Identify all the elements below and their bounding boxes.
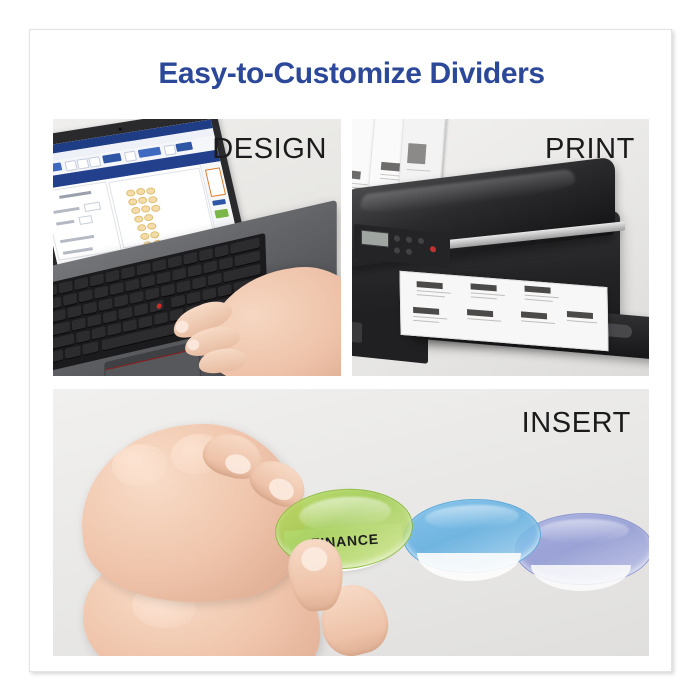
- divider-tab-preview: [134, 215, 144, 223]
- fingernail: [174, 319, 191, 335]
- step-photo-insert: FINANCE INSERT: [53, 389, 649, 656]
- ribbon-button: [175, 142, 193, 152]
- ribbon-field: [76, 158, 89, 169]
- webcam-icon: [118, 128, 122, 131]
- fingernail: [300, 546, 328, 573]
- step-label-print: PRINT: [545, 133, 635, 166]
- divider-tab-preview: [135, 187, 145, 195]
- ribbon-field: [124, 151, 137, 162]
- divider-tab-preview: [131, 206, 141, 214]
- form-label: [56, 220, 74, 226]
- ribbon-field: [88, 156, 101, 167]
- divider-tab-preview: [146, 187, 156, 195]
- app-rail-action-button: [214, 209, 229, 219]
- divider-tab-preview: [151, 204, 161, 212]
- step-photo-design: DESIGN: [53, 119, 341, 376]
- ribbon-button: [138, 147, 162, 158]
- divider-tab-preview: [126, 189, 136, 197]
- printer-button[interactable]: [394, 235, 400, 242]
- ribbon-button: [53, 162, 62, 173]
- divider-tab-preview: [140, 205, 150, 213]
- white-card: Easy-to-Customize Dividers: [29, 29, 672, 672]
- ribbon-field: [64, 160, 77, 171]
- divider-tab-preview: [143, 213, 153, 221]
- divider-tab-preview: [148, 196, 158, 204]
- step-photo-print: PRINT: [352, 119, 649, 376]
- form-label: [53, 207, 79, 214]
- divider-tab-preview: [137, 224, 147, 232]
- printer-button[interactable]: [406, 236, 412, 243]
- divider-tab-preview: [140, 232, 150, 240]
- form-label: [60, 235, 94, 243]
- fingernail: [265, 474, 297, 504]
- form-input: [84, 202, 102, 212]
- divider-tab-preview: [146, 222, 156, 230]
- panel-heading: [59, 191, 91, 199]
- divider-tab-preview: [128, 198, 138, 206]
- printer-button[interactable]: [394, 247, 400, 254]
- product-marketing-card: Easy-to-Customize Dividers: [0, 0, 700, 700]
- step-label-design: DESIGN: [212, 133, 327, 166]
- form-label: [63, 247, 93, 255]
- printer-usb-port: [352, 321, 362, 343]
- app-rail-button: [212, 199, 226, 206]
- form-input: [78, 215, 93, 225]
- divider-tab-preview: [149, 231, 159, 239]
- printer-button[interactable]: [406, 248, 412, 255]
- printer-lcd-display: [361, 230, 389, 248]
- app-thumbnail-preview: [205, 167, 226, 197]
- page-title: Easy-to-Customize Dividers: [30, 57, 673, 91]
- thumbnail-nail: [223, 451, 253, 476]
- step-label-insert: INSERT: [522, 407, 631, 440]
- fingernail: [186, 338, 200, 352]
- ribbon-button: [102, 153, 122, 164]
- ribbon-field: [163, 144, 176, 155]
- printer-button[interactable]: [418, 238, 424, 245]
- printer-power-button[interactable]: [430, 246, 436, 253]
- divider-tab-preview: [137, 196, 147, 204]
